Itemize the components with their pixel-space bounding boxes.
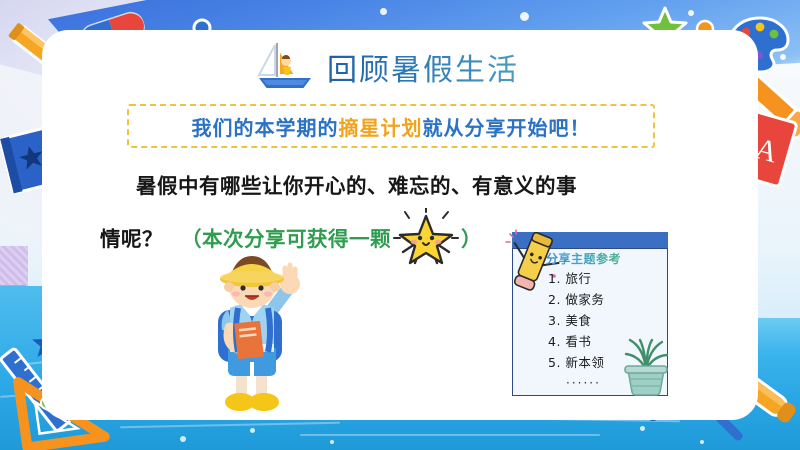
question-line-1: 暑假中有哪些让你开心的、难忘的、有意义的事 [100, 164, 710, 208]
highlight-accent: 摘星计划 [339, 116, 423, 140]
water-stripe [300, 434, 600, 436]
water-bubble [330, 440, 334, 444]
page-title: 回顾暑假生活 [327, 45, 519, 89]
water-bubble [640, 426, 645, 431]
sailboat-icon [255, 39, 319, 95]
list-item: 1. 旅行 [548, 268, 664, 289]
list-item: 2. 做家务 [548, 289, 664, 310]
list-item: 3. 美食 [548, 310, 664, 331]
water-bubble [250, 428, 255, 433]
reward-text-close: ） [461, 222, 482, 252]
reference-list-ellipsis: ······ [566, 376, 601, 390]
question-line-2-prefix: 情呢？ [100, 222, 163, 252]
potted-plant-icon [616, 330, 676, 396]
star-mascot-icon [393, 208, 459, 266]
glitter-strip [0, 246, 28, 290]
water-bubble [180, 436, 186, 442]
student-boy-icon [190, 244, 314, 416]
snow-dot [520, 12, 529, 21]
highlight-lead: 我们的本学期的 [192, 116, 339, 140]
reference-panel-title: 分享主题参考 [546, 250, 621, 267]
slide-header: 回顾暑假生活 [255, 38, 585, 96]
highlight-box: 我们的本学期的摘星计划就从分享开始吧！ [127, 104, 655, 148]
slide-canvas: A [0, 0, 800, 450]
snow-dot [380, 8, 387, 15]
highlight-tail: 就从分享开始吧！ [423, 116, 591, 140]
